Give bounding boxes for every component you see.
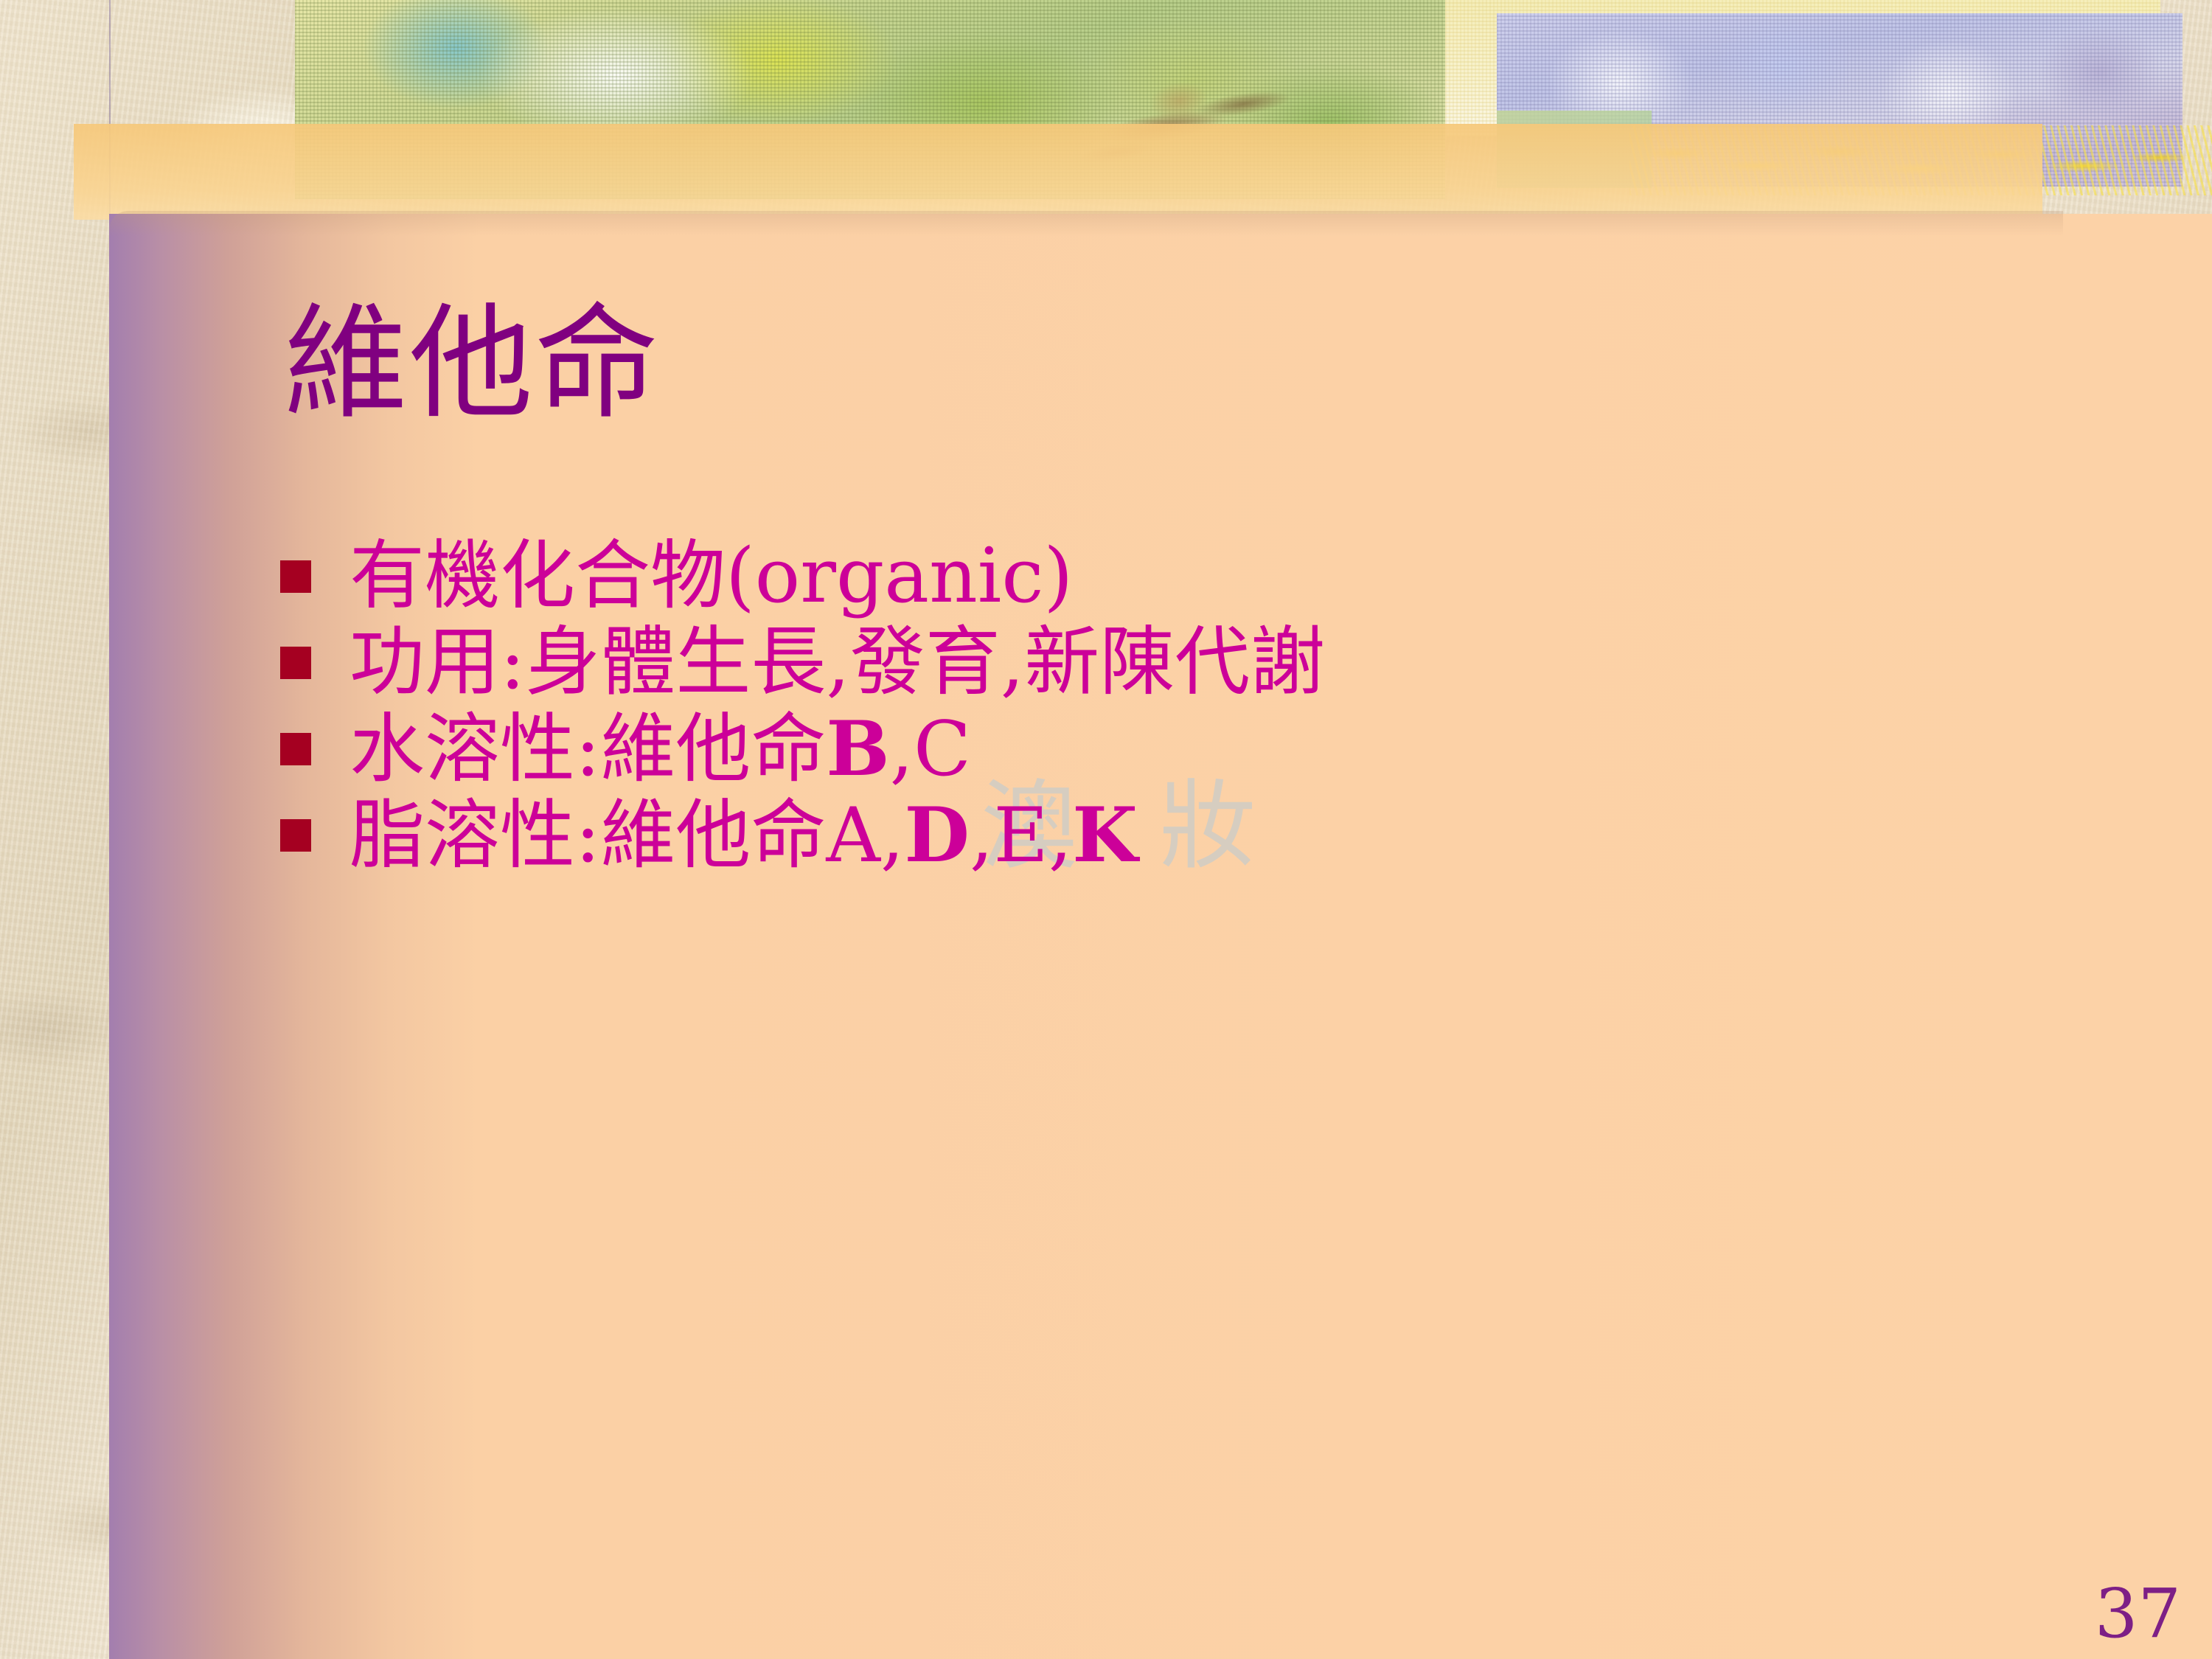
square-bullet-icon bbox=[280, 647, 311, 679]
vitamin-k-label: K bbox=[1072, 791, 1138, 880]
list-item-prefix: 水溶性:維他命 bbox=[349, 706, 826, 793]
list-item: 脂溶性:維他命A,D,E,K bbox=[280, 797, 2050, 874]
presentation-slide: 澳 妝 維他命 有機化合物(organic) 功用:身體生長,發育,新陳代謝 水… bbox=[0, 0, 2212, 1659]
page-title: 維他命 bbox=[284, 299, 660, 428]
square-bullet-icon bbox=[280, 733, 311, 765]
vitamin-d-label: D bbox=[904, 791, 969, 880]
page-number: 37 bbox=[2095, 1573, 2181, 1655]
list-item: 有機化合物(organic) bbox=[280, 538, 2050, 616]
square-bullet-icon bbox=[280, 819, 311, 852]
square-bullet-icon bbox=[280, 560, 311, 593]
orange-overlay-bar bbox=[74, 124, 2042, 220]
separator: , bbox=[1048, 792, 1072, 880]
vitamin-b-label: B bbox=[826, 705, 889, 793]
body-top-shadow bbox=[109, 211, 2063, 236]
separator: , bbox=[880, 792, 904, 880]
list-item: 功用:身體生長,發育,新陳代謝 bbox=[280, 625, 2050, 702]
list-item-label: 脂溶性:維他命A,D,E,K bbox=[349, 797, 1138, 874]
vitamin-e-label: E bbox=[993, 792, 1048, 880]
list-item-label: 水溶性:維他命B,C bbox=[349, 711, 971, 788]
list-item: 水溶性:維他命B,C bbox=[280, 711, 2050, 788]
vitamin-c-label: C bbox=[914, 706, 971, 793]
vitamin-a-label: A bbox=[826, 792, 880, 880]
list-item-label: 有機化合物(organic) bbox=[349, 538, 1073, 615]
separator: , bbox=[970, 792, 993, 880]
list-item-label: 功用:身體生長,發育,新陳代謝 bbox=[349, 625, 1325, 701]
bullet-list: 有機化合物(organic) 功用:身體生長,發育,新陳代謝 水溶性:維他命B,… bbox=[280, 538, 2050, 883]
list-item-prefix: 脂溶性:維他命 bbox=[349, 792, 826, 880]
separator: , bbox=[890, 706, 914, 793]
